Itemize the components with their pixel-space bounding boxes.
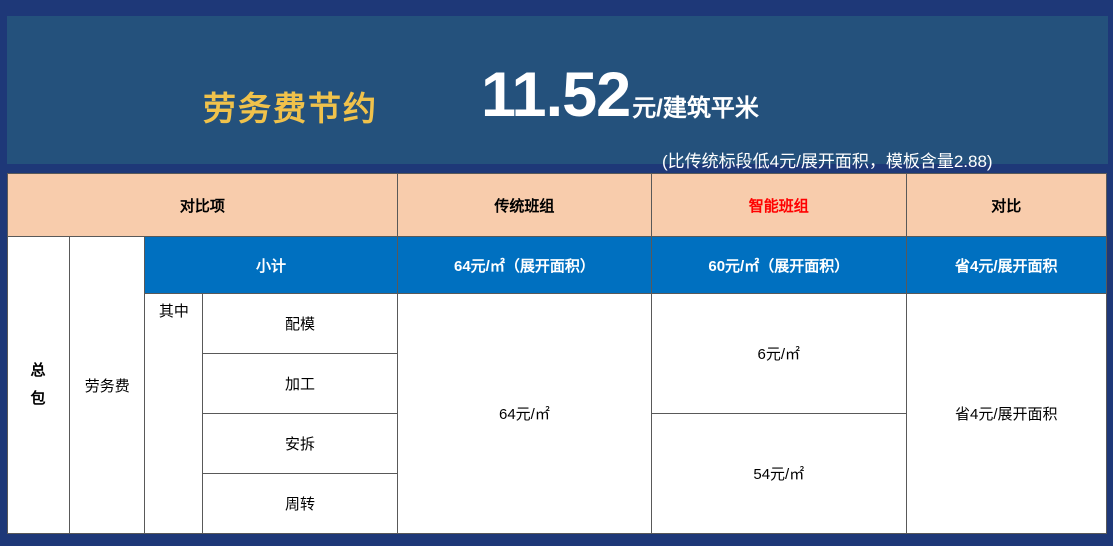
- headline-number: 11.52: [481, 64, 630, 127]
- subtotal-label: 小计: [145, 237, 397, 294]
- headline-note: (比传统标段低4元/展开面积，模板含量2.88): [662, 147, 993, 172]
- value-smart-upper: 6元/㎡: [652, 294, 906, 414]
- subtotal-traditional: 64元/㎡（展开面积）: [397, 237, 651, 294]
- item-name-peimo: 配模: [203, 294, 397, 354]
- slide-root: 劳务费节约 11.52 元/建筑平米 (比传统标段低4元/展开面积，模板含量2.…: [0, 0, 1113, 546]
- value-compare-total: 省4元/展开面积: [906, 294, 1107, 534]
- group-label-char-2: 包: [10, 385, 67, 414]
- headline-metric: 11.52 元/建筑平米: [481, 64, 759, 127]
- summary-banner: 劳务费节约 11.52 元/建筑平米 (比传统标段低4元/展开面积，模板含量2.…: [7, 16, 1108, 164]
- subtotal-smart: 60元/㎡（展开面积）: [652, 237, 906, 294]
- item-name-zhouzhuan: 周转: [203, 474, 397, 534]
- header-compare: 对比: [906, 174, 1107, 237]
- item-name-anchai: 安拆: [203, 414, 397, 474]
- comparison-table: 对比项 传统班组 智能班组 对比 总 包 劳务费 小计 64元/㎡（展开面积） …: [7, 173, 1107, 534]
- subtotal-compare: 省4元/展开面积: [906, 237, 1107, 294]
- value-traditional-total: 64元/㎡: [397, 294, 651, 534]
- table-header-row: 对比项 传统班组 智能班组 对比: [8, 174, 1107, 237]
- banner-title: 劳务费节约: [203, 92, 378, 125]
- header-smart: 智能班组: [652, 174, 906, 237]
- value-smart-lower: 54元/㎡: [652, 414, 906, 534]
- breakdown-label-cell: 其中: [145, 294, 203, 534]
- headline-unit: 元/建筑平米: [632, 97, 759, 121]
- category-label-cell: 劳务费: [70, 237, 145, 534]
- header-item-label: 对比项: [8, 174, 398, 237]
- group-label-char-1: 总: [10, 357, 67, 386]
- item-name-jiagong: 加工: [203, 354, 397, 414]
- header-traditional: 传统班组: [397, 174, 651, 237]
- group-label-cell: 总 包: [8, 237, 70, 534]
- table-row: 其中 配模 64元/㎡ 6元/㎡ 省4元/展开面积: [8, 294, 1107, 354]
- subtotal-row: 总 包 劳务费 小计 64元/㎡（展开面积） 60元/㎡（展开面积） 省4元/展…: [8, 237, 1107, 294]
